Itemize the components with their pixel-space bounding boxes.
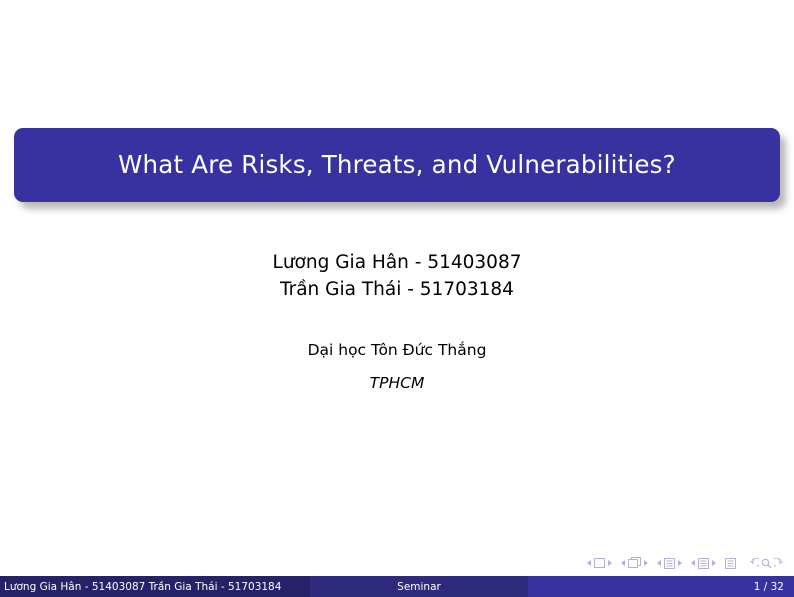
slide-icon[interactable] xyxy=(594,558,605,568)
author-line: Trần Gia Thái - 51703184 xyxy=(0,276,794,303)
nav-history-group[interactable] xyxy=(748,558,785,569)
presentation-icon[interactable] xyxy=(725,558,736,569)
back-icon[interactable] xyxy=(748,558,759,569)
next-section-arrow-icon[interactable] xyxy=(712,560,716,566)
footer-bar: Lương Gia Hân - 51403087 Trần Gia Thái -… xyxy=(0,576,794,597)
footer-page-number: 1 / 32 xyxy=(528,576,794,597)
prev-frame-arrow-icon[interactable] xyxy=(621,560,625,566)
institute: Dại học Tôn Đức Thắng xyxy=(0,339,794,361)
frame-icon[interactable] xyxy=(628,557,641,569)
nav-frame-group[interactable] xyxy=(621,557,648,569)
forward-icon[interactable] xyxy=(774,558,785,569)
footer-title: Seminar xyxy=(310,576,528,597)
next-frame-arrow-icon[interactable] xyxy=(644,560,648,566)
next-slide-arrow-icon[interactable] xyxy=(608,560,612,566)
section-icon[interactable] xyxy=(698,558,709,569)
search-icon[interactable] xyxy=(761,558,772,569)
prev-subsection-arrow-icon[interactable] xyxy=(657,560,661,566)
nav-presentation-group[interactable] xyxy=(725,558,736,569)
author-line: Lương Gia Hân - 51403087 xyxy=(0,249,794,276)
next-subsection-arrow-icon[interactable] xyxy=(678,560,682,566)
location-label: TPHCM xyxy=(0,372,794,394)
institute-label: Dại học Tôn Đức Thắng xyxy=(0,339,794,361)
prev-section-arrow-icon[interactable] xyxy=(691,560,695,566)
author-list: Lương Gia Hân - 51403087 Trần Gia Thái -… xyxy=(0,249,794,303)
location: TPHCM xyxy=(0,372,794,394)
navigation-symbols[interactable] xyxy=(497,553,787,573)
prev-slide-arrow-icon[interactable] xyxy=(587,560,591,566)
title-block: What Are Risks, Threats, and Vulnerabili… xyxy=(14,128,780,202)
nav-section-group[interactable] xyxy=(691,558,716,569)
nav-subsection-group[interactable] xyxy=(657,558,682,569)
page-title: What Are Risks, Threats, and Vulnerabili… xyxy=(118,152,676,179)
nav-slide-group[interactable] xyxy=(587,558,612,568)
presentation-slide: What Are Risks, Threats, and Vulnerabili… xyxy=(0,0,794,597)
footer-author: Lương Gia Hân - 51403087 Trần Gia Thái -… xyxy=(0,576,310,597)
subsection-icon[interactable] xyxy=(664,558,675,569)
